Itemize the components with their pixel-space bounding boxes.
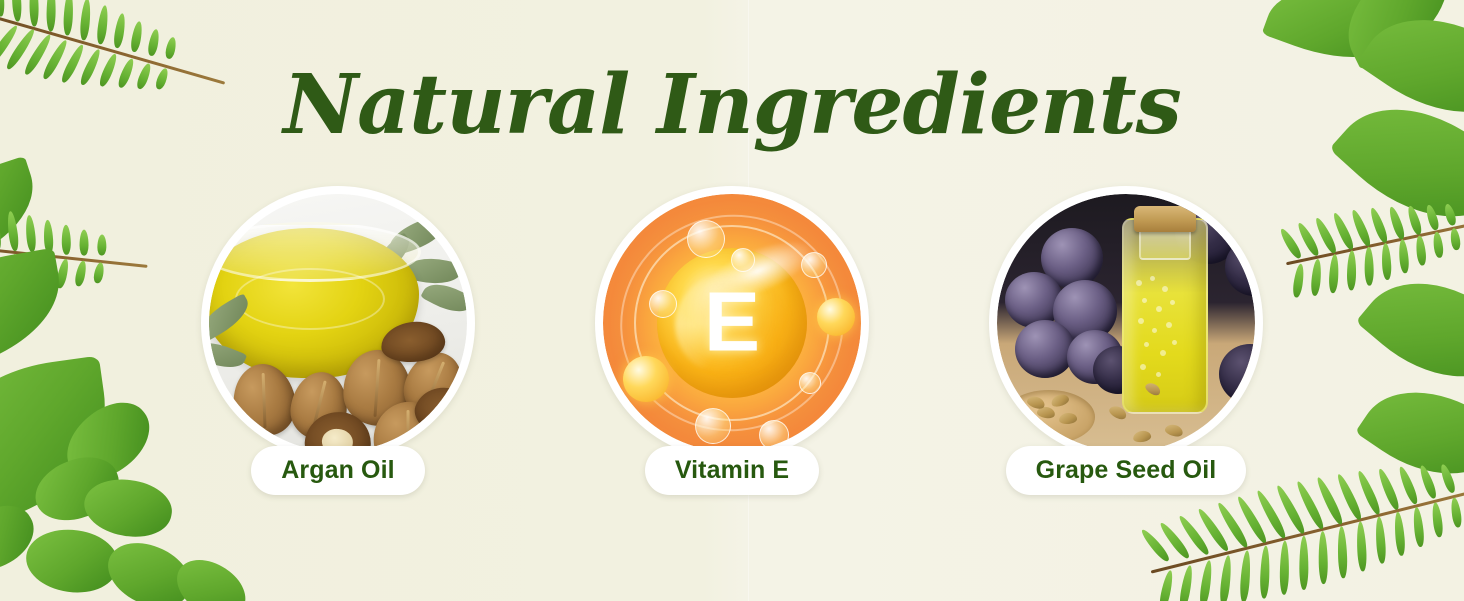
bubble-icon bbox=[649, 290, 677, 318]
droplet-icon bbox=[817, 298, 855, 336]
ingredient-card-argan-oil[interactable]: Argan Oil bbox=[197, 186, 479, 495]
grape-seed-oil-image bbox=[989, 186, 1263, 460]
leaf-shape-icon bbox=[1327, 0, 1464, 70]
grape bbox=[1015, 320, 1075, 378]
bubble-icon bbox=[799, 372, 821, 394]
natural-ingredients-banner: Natural Ingredients bbox=[0, 0, 1464, 601]
ingredient-card-list: Argan Oil bbox=[0, 186, 1464, 495]
bubble-icon bbox=[731, 248, 755, 272]
leaf-shape-icon bbox=[22, 524, 122, 598]
bubble-icon bbox=[695, 408, 731, 444]
frond-stem bbox=[1151, 488, 1464, 573]
ingredient-label-vitamin-e: Vitamin E bbox=[645, 446, 819, 495]
cork-stopper bbox=[1134, 206, 1196, 232]
oil-bottle bbox=[1122, 218, 1208, 414]
leaf-shape-icon bbox=[0, 494, 45, 582]
argan-oil-image bbox=[201, 186, 475, 460]
ingredient-card-grape-seed-oil[interactable]: Grape Seed Oil bbox=[985, 186, 1267, 495]
bubble-icon bbox=[801, 252, 827, 278]
leaf-shape-icon bbox=[166, 548, 255, 601]
ingredient-label-argan-oil: Argan Oil bbox=[251, 446, 424, 495]
leaf-shape-icon bbox=[98, 530, 201, 601]
vitamin-e-image: E bbox=[595, 186, 869, 460]
droplet-icon bbox=[623, 356, 669, 402]
bubble-icon bbox=[687, 220, 725, 258]
condensation-droplets bbox=[1132, 272, 1188, 392]
ingredient-card-vitamin-e[interactable]: E Vitamin E bbox=[591, 186, 873, 495]
page-title: Natural Ingredients bbox=[0, 64, 1464, 146]
ingredient-label-grape-seed-oil: Grape Seed Oil bbox=[1006, 446, 1247, 495]
vitamin-letter: E bbox=[704, 279, 760, 363]
oil-surface-ripple bbox=[235, 268, 385, 330]
